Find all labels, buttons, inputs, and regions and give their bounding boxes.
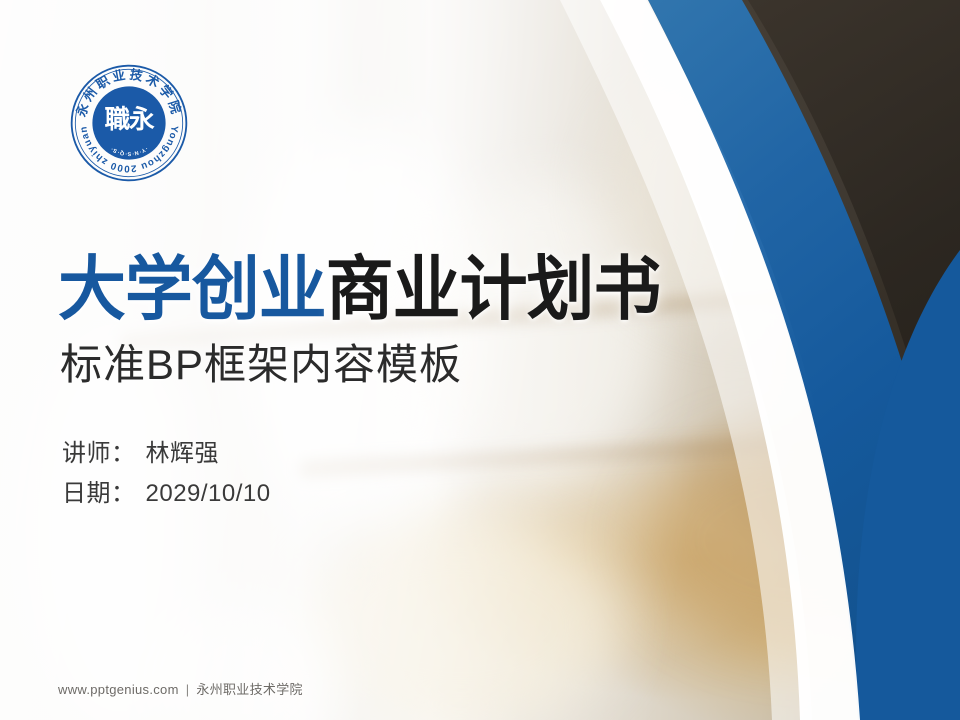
meta-row-presenter: 讲师：林辉强 [62, 434, 758, 474]
footer: www.pptgenius.com|永州职业技术学院 [58, 679, 303, 698]
title-text-block: 大学创业商业计划书 标准BP框架内容模板 讲师：林辉强 日期：2029/10/1… [58, 250, 758, 514]
footer-separator: | [186, 682, 190, 697]
title-segment-blue: 大学创业 [58, 250, 326, 328]
meta-row-date: 日期：2029/10/10 [62, 474, 758, 514]
presenter-label: 讲师： [62, 440, 136, 467]
presenter-value: 林辉强 [146, 440, 220, 467]
date-value: 2029/10/10 [146, 480, 271, 507]
footer-institution: 永州职业技术学院 [196, 682, 302, 697]
logo-center-glyphs: 職永 [105, 105, 155, 134]
page-subtitle: 标准BP框架内容模板 [60, 340, 758, 390]
footer-site: www.pptgenius.com [58, 682, 179, 697]
title-slide: 永州职业技术学院 Yongzhou 2000 zhiyuan ·Y·N·S·Q·… [0, 0, 960, 720]
page-title: 大学创业商业计划书 [58, 250, 737, 328]
college-logo: 永州职业技术学院 Yongzhou 2000 zhiyuan ·Y·N·S·Q·… [68, 62, 190, 184]
presenter-meta: 讲师：林辉强 日期：2029/10/10 [62, 434, 758, 514]
date-label: 日期： [62, 480, 136, 507]
title-segment-black: 商业计划书 [326, 250, 661, 328]
